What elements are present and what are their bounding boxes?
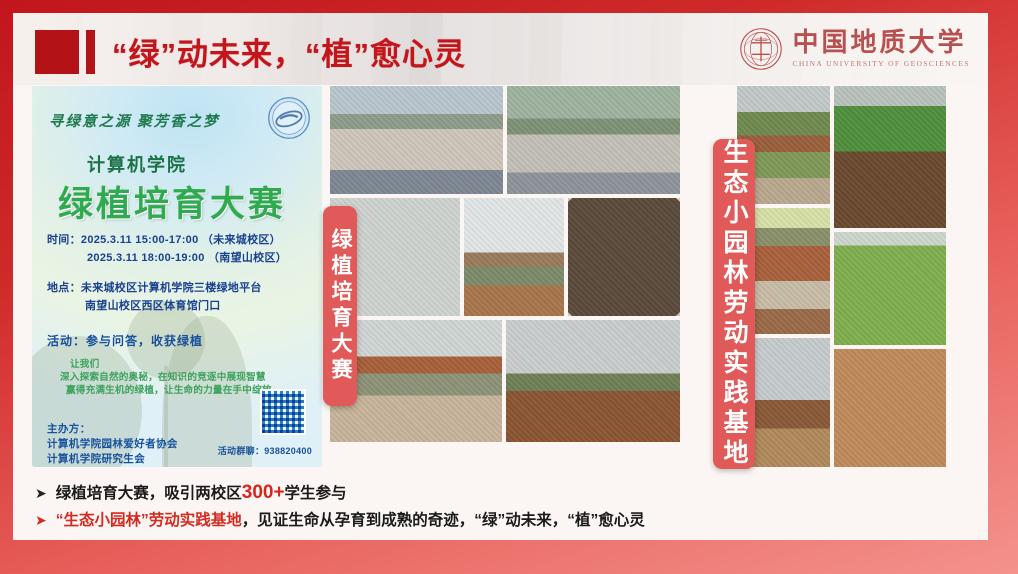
- poster-time-value-2: 2025.3.11 18:00-19:00 （南望山校区）: [87, 252, 287, 264]
- poster-organizer-1: 计算机学院园林爱好者协会: [47, 437, 178, 452]
- photo-texture: [834, 232, 946, 345]
- caption-2-rest: ，见证生命从孕育到成熟的奇迹，“绿”动未来，“植”愈心灵: [242, 512, 645, 529]
- poster-encourage-line-2: 深入探索自然的奥秘，在知识的竞逐中展现智慧: [60, 371, 315, 384]
- bullet-arrow-icon: ➤: [35, 507, 47, 533]
- photo-grid-row-2: [330, 198, 680, 316]
- photo-students-digging-soil: [506, 320, 680, 442]
- photo-pepper-plants: [834, 349, 946, 467]
- caption-2-red: “生态小园林”劳动实践基地: [56, 512, 242, 529]
- photo-texture: [507, 86, 680, 194]
- caption-1-prefix: 绿植培育大赛，吸引两校区: [56, 485, 242, 502]
- photo-texture: [464, 198, 564, 316]
- university-logo-text: 中国地质大学 CHINA UNIVERSITY OF GEOSCIENCES: [792, 30, 970, 68]
- poster-encourage-line-1: 让我们: [60, 358, 315, 371]
- university-logo: 中国地质大学 CHINA UNIVERSITY OF GEOSCIENCES: [739, 27, 970, 71]
- photo-texture: [568, 198, 680, 316]
- photo-strawberry-plants: [834, 86, 946, 228]
- photo-column-produce: [834, 86, 946, 467]
- university-name-en: CHINA UNIVERSITY OF GEOSCIENCES: [792, 60, 970, 68]
- slide-root: “绿”动未来，“植”愈心灵 中国地质大学 CHINA UNIVERSITY OF…: [0, 0, 1018, 574]
- photo-grid-row-1: [330, 86, 680, 194]
- photo-grid-row-3: [330, 320, 680, 442]
- poster-place-row-2: 南望山校区西区体育馆门口: [47, 297, 315, 315]
- poster-place-row-1: 地点：未来城校区计算机学院三楼绿地平台: [47, 279, 315, 297]
- college-emblem-icon: [267, 96, 311, 140]
- poster-time-label: 时间：: [47, 231, 81, 249]
- poster-time-value-1: 2025.3.11 15:00-17:00 （未来城校区）: [81, 234, 281, 246]
- photo-texture: [506, 320, 680, 442]
- poster-organizer-label: 主办方：: [47, 422, 178, 437]
- photo-grid-middle: [325, 86, 680, 467]
- poster-slogan: 寻绿意之源 聚芳香之梦: [49, 110, 220, 131]
- photo-texture: [834, 349, 946, 467]
- university-name-cn: 中国地质大学: [792, 30, 970, 56]
- title-marker-square: [35, 30, 79, 74]
- caption-1-suffix: 学生参与: [285, 485, 347, 502]
- slide-captions: ➤ 绿植培育大赛，吸引两校区300+学生参与 ➤ “生态小园林”劳动实践基地，见…: [13, 476, 988, 534]
- slide-content: 寻绿意之源 聚芳香之梦 计算机学院 绿植培育大赛 时间：2025.3.11 15…: [13, 85, 988, 467]
- bullet-arrow-icon: ➤: [35, 480, 47, 506]
- photo-students-group-campus: [507, 86, 680, 194]
- photo-cucumber-vine: [834, 232, 946, 345]
- poster-group-chat-label: 活动群聊：938820400: [218, 444, 312, 457]
- title-marker-bar: [86, 30, 95, 74]
- photo-students-on-terrace-garden: [464, 198, 564, 316]
- university-seal-icon: [739, 27, 783, 71]
- photo-texture: [330, 86, 503, 194]
- ribbon-competition-title: 绿植培育大赛: [323, 206, 357, 406]
- caption-line-1: ➤ 绿植培育大赛，吸引两校区300+学生参与: [35, 480, 988, 507]
- poster-department: 计算机学院: [87, 151, 187, 177]
- slide-inner-panel: “绿”动未来，“植”愈心灵 中国地质大学 CHINA UNIVERSITY OF…: [13, 13, 988, 540]
- poster-place-value-1: 未来城校区计算机学院三楼绿地平台: [81, 282, 262, 294]
- caption-line-2: ➤ “生态小园林”劳动实践基地，见证生命从孕育到成熟的奇迹，“绿”动未来，“植”…: [35, 507, 988, 534]
- page-title: “绿”动未来，“植”愈心灵: [112, 29, 466, 74]
- poster-place-value-2: 南望山校区西区体育馆门口: [85, 300, 221, 312]
- poster-organizers: 主办方： 计算机学院园林爱好者协会 计算机学院研究生会: [47, 422, 178, 467]
- caption-2-text: “生态小园林”劳动实践基地，见证生命从孕育到成熟的奇迹，“绿”动未来，“植”愈心…: [56, 508, 645, 534]
- poster-organizer-2: 计算机学院研究生会: [47, 452, 178, 467]
- slide-header: “绿”动未来，“植”愈心灵 中国地质大学 CHINA UNIVERSITY OF…: [13, 13, 988, 85]
- poster-time-row-2: 2025.3.11 18:00-19:00 （南望山校区）: [47, 249, 315, 267]
- poster-main-title: 绿植培育大赛: [58, 176, 286, 227]
- photo-texture: [834, 86, 946, 228]
- photo-students-holding-plants-street: [330, 86, 503, 194]
- event-poster: 寻绿意之源 聚芳香之梦 计算机学院 绿植培育大赛 时间：2025.3.11 15…: [32, 86, 322, 467]
- poster-activity: 活动：参与问答，收获绿植: [47, 332, 203, 349]
- title-row: “绿”动未来，“植”愈心灵: [35, 29, 466, 74]
- poster-details: 时间：2025.3.11 15:00-17:00 （未来城校区） 2025.3.…: [47, 231, 315, 315]
- qr-code-image: [260, 389, 306, 435]
- poster-time-row-1: 时间：2025.3.11 15:00-17:00 （未来城校区）: [47, 231, 315, 249]
- ribbon-practice-base-title: 生态小园林劳动实践基地: [713, 139, 755, 469]
- caption-1-text: 绿植培育大赛，吸引两校区300+学生参与: [56, 480, 347, 507]
- poster-place-label: 地点：: [47, 279, 81, 297]
- photo-seedling-tray: [568, 198, 680, 316]
- caption-1-highlight: 300+: [242, 482, 285, 503]
